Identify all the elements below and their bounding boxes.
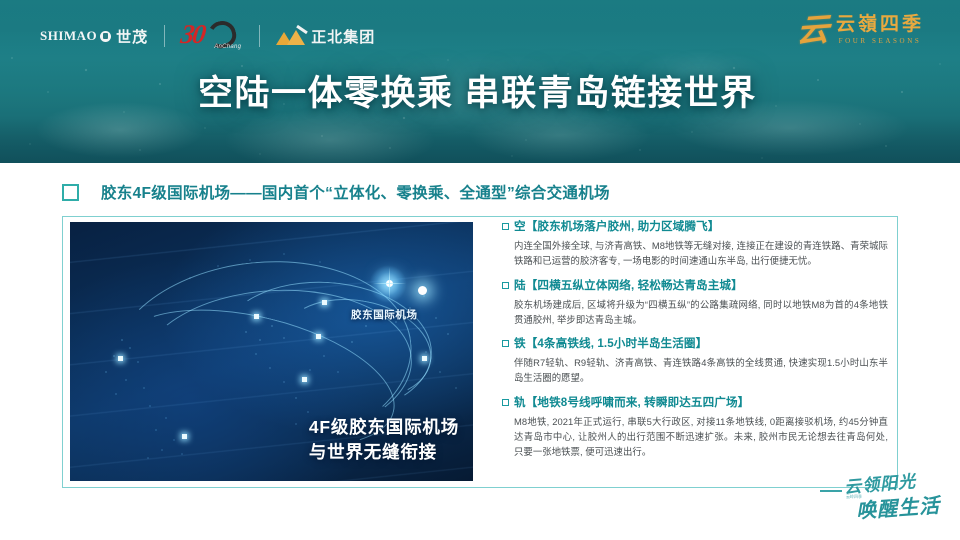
map-node-europe	[254, 314, 259, 319]
feature-heading-rail: 铁【4条高铁线, 1.5小时半岛生活圈】	[502, 336, 888, 351]
feature-heading-road: 陆【四横五纵立体网络, 轻松畅达青岛主城】	[502, 278, 888, 293]
shimao-emblem-icon	[100, 31, 111, 42]
section-heading: 胶东4F级国际机场——国内首个“立体化、零换乘、全通型”综合交通机场	[62, 181, 610, 203]
map-hub-node-qingdao	[386, 280, 393, 287]
feature-body-text: M8地铁, 2021年正式运行, 串联5大行政区, 对接11条地铁线, 0距离接…	[514, 414, 888, 460]
photo-caption-line-1: 4F级胶东国际机场	[309, 415, 459, 440]
logo-shimao: SHIMAO 世茂	[24, 21, 164, 51]
feature-body-text: 伴随R7轻轨、R9轻轨、济青高铁、青连铁路4条高铁的全线贯通, 快速实现1.5小…	[514, 355, 888, 385]
feature-title-label: 陆【四横五纵立体网络, 轻松畅达青岛主城】	[514, 278, 743, 293]
logo-zhengbei: 正北集团	[260, 21, 391, 51]
map-node-namerica	[118, 356, 123, 361]
map-node-mideast	[316, 334, 321, 339]
map-node-samerica	[182, 434, 187, 439]
square-bullet-icon	[62, 184, 79, 201]
brand-logo-four-seasons: 云 云嶺四季 FOUR SEASONS	[797, 14, 924, 46]
square-bullet-icon	[502, 399, 509, 406]
list-item: 空【胶东机场落户胶州, 助力区域腾飞】 内连全国外接全球, 与济青高铁、M8地铁…	[502, 219, 888, 269]
photo-caption: 4F级胶东国际机场 与世界无缝衔接	[309, 415, 459, 465]
partner-logo-strip: SHIMAO 世茂 30 AnChang 正北集团	[24, 19, 391, 53]
map-hub-label: 胶东国际机场	[351, 307, 418, 322]
map-node-northeast	[418, 286, 427, 295]
brand-cn-label: 云嶺四季	[836, 15, 924, 36]
world-map-photo-panel: 胶东国际机场 4F级胶东国际机场 与世界无缝衔接	[70, 222, 473, 481]
feature-title-label: 空【胶东机场落户胶州, 助力区域腾飞】	[514, 219, 719, 234]
page-title: 空陆一体零换乘 串联青岛链接世界	[198, 73, 757, 115]
brand-en-label: FOUR SEASONS	[839, 37, 922, 45]
feature-body-text: 胶东机场建成后, 区域将升级为“四横五纵”的公路集疏网络, 同时以地铁M8为首的…	[514, 297, 888, 327]
list-item: 铁【4条高铁线, 1.5小时半岛生活圈】 伴随R7轻轨、R9轻轨、济青高铁、青连…	[502, 336, 888, 386]
brand-calligraphy-icon: 云	[796, 13, 829, 47]
map-node-asia	[322, 300, 327, 305]
zhengbei-mountain-icon	[276, 28, 306, 45]
zhengbei-cn-label: 正北集团	[311, 26, 375, 47]
footer-watermark: 云领阳光 云岭四季 唤醒生活	[826, 468, 936, 526]
feature-list: 空【胶东机场落户胶州, 助力区域腾飞】 内连全国外接全球, 与济青高铁、M8地铁…	[502, 219, 888, 468]
watermark-line-2: 唤醒生活	[855, 489, 941, 524]
anniversary-brush-logo-icon: 30 AnChang	[181, 21, 243, 51]
hero-banner: SHIMAO 世茂 30 AnChang 正北集团 云 云嶺四季 FOUR SE…	[0, 0, 960, 163]
shimao-cn-label: 世茂	[116, 26, 148, 47]
feature-heading-air: 空【胶东机场落户胶州, 助力区域腾飞】	[502, 219, 888, 234]
feature-title-label: 铁【4条高铁线, 1.5小时半岛生活圈】	[514, 336, 707, 351]
anniversary-sub-label: AnChang	[214, 44, 241, 50]
map-node-pacific	[422, 356, 427, 361]
feature-heading-metro: 轨【地铁8号线呼啸而来, 转瞬即达五四广场】	[502, 395, 888, 410]
logo-anniversary: 30 AnChang	[165, 21, 259, 51]
feature-body-text: 内连全国外接全球, 与济青高铁、M8地铁等无缝对接, 连接正在建设的青连铁路、青…	[514, 238, 888, 268]
section-title-label: 胶东4F级国际机场——国内首个“立体化、零换乘、全通型”综合交通机场	[101, 181, 610, 203]
shimao-en-label: SHIMAO	[40, 28, 97, 44]
watermark-rule	[820, 490, 842, 492]
square-bullet-icon	[502, 340, 509, 347]
square-bullet-icon	[502, 282, 509, 289]
list-item: 轨【地铁8号线呼啸而来, 转瞬即达五四广场】 M8地铁, 2021年正式运行, …	[502, 395, 888, 460]
square-bullet-icon	[502, 223, 509, 230]
brand-wordmark: 云嶺四季 FOUR SEASONS	[836, 15, 924, 46]
list-item: 陆【四横五纵立体网络, 轻松畅达青岛主城】 胶东机场建成后, 区域将升级为“四横…	[502, 278, 888, 328]
feature-title-label: 轨【地铁8号线呼啸而来, 转瞬即达五四广场】	[514, 395, 749, 410]
photo-caption-line-2: 与世界无缝衔接	[309, 440, 459, 465]
map-node-africa	[302, 377, 307, 382]
